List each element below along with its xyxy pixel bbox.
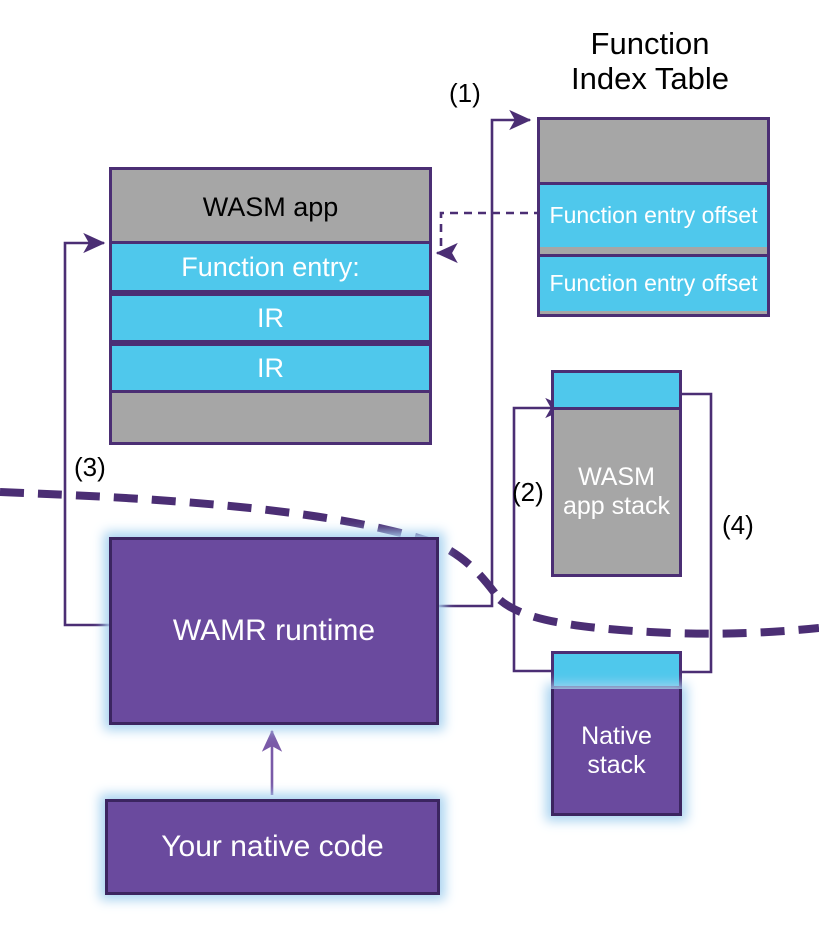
wasm-app-title: WASM app bbox=[112, 192, 429, 223]
function-index-table-row: Function entry offset bbox=[540, 182, 767, 247]
wasm-app-stack-box: WASM app stack bbox=[551, 410, 682, 577]
function-index-table-title: Function Index Table bbox=[490, 27, 810, 96]
wasm-app-box: WASM app Function entry: IR IR bbox=[109, 167, 432, 445]
wasm-app-stack-top-bar bbox=[551, 370, 682, 410]
step-label-2: (2) bbox=[512, 477, 544, 508]
diagram-canvas: Function Index Table Function entry offs… bbox=[0, 0, 819, 925]
wamr-runtime-box: WAMR runtime bbox=[109, 537, 439, 725]
step-label-1: (1) bbox=[449, 78, 481, 109]
native-stack-top-bar bbox=[551, 651, 682, 689]
function-index-table: Function entry offset Function entry off… bbox=[537, 117, 770, 317]
wasm-app-row-ir: IR bbox=[112, 343, 429, 393]
step-label-4: (4) bbox=[722, 510, 754, 541]
boundary-divider-right bbox=[500, 600, 819, 634]
arrow-step-1 bbox=[432, 120, 530, 606]
wasm-app-row-function-entry: Function entry: bbox=[112, 241, 429, 293]
your-native-code-box: Your native code bbox=[105, 799, 440, 895]
step-label-3: (3) bbox=[74, 452, 106, 483]
arrow-step-3 bbox=[65, 243, 109, 625]
native-stack-box: Native stack bbox=[551, 689, 682, 816]
wasm-app-row-ir: IR bbox=[112, 293, 429, 343]
function-index-table-row: Function entry offset bbox=[540, 254, 767, 311]
